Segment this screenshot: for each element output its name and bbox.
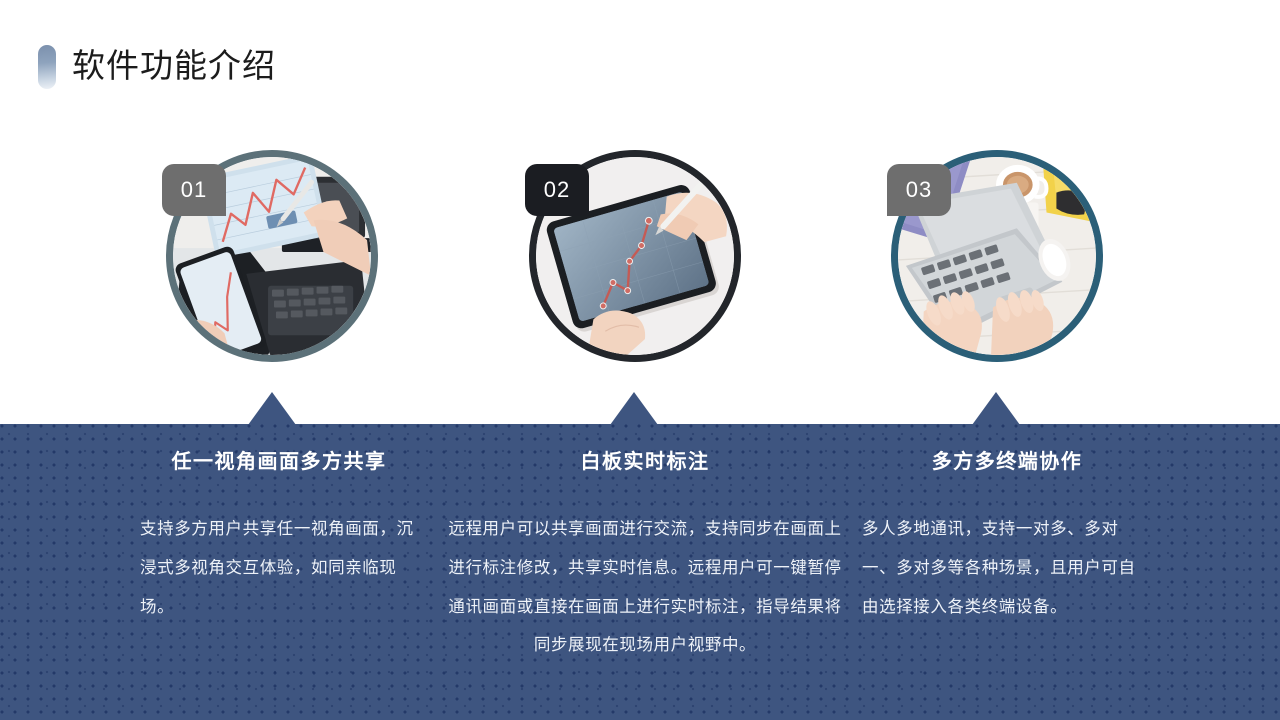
column-body-1: 支持多方用户共享任一视角画面，沉浸式多视角交互体验，如同亲临现场。	[140, 510, 418, 626]
feature-badge-3: 03	[887, 164, 951, 216]
column-heading-3: 多方多终端协作	[862, 450, 1152, 474]
description-column-2: 白板实时标注 远程用户可以共享画面进行交流，支持同步在画面上进行标注修改，共享实…	[448, 450, 842, 665]
feature-badge-2: 02	[525, 164, 589, 216]
description-columns: 任一视角画面多方共享 支持多方用户共享任一视角画面，沉浸式多视角交互体验，如同亲…	[0, 424, 1280, 720]
feature-circle-2[interactable]: 02	[529, 150, 741, 362]
pointer-triangle-2	[610, 392, 658, 425]
feature-badge-1: 01	[162, 164, 226, 216]
description-column-1: 任一视角画面多方共享 支持多方用户共享任一视角画面，沉浸式多视角交互体验，如同亲…	[140, 450, 418, 626]
column-heading-2: 白板实时标注	[448, 450, 842, 474]
feature-circles: 01	[0, 0, 1280, 420]
description-column-3: 多方多终端协作 多人多地通讯，支持一对多、多对一、多对多等各种场景，且用户可自由…	[862, 450, 1152, 626]
pointer-triangle-1	[248, 392, 296, 425]
feature-circle-3[interactable]: 03	[891, 150, 1103, 362]
column-heading-1: 任一视角画面多方共享	[140, 450, 418, 474]
column-body-2: 远程用户可以共享画面进行交流，支持同步在画面上进行标注修改，共享实时信息。远程用…	[448, 510, 842, 665]
pointer-triangle-3	[972, 392, 1020, 425]
column-body-3: 多人多地通讯，支持一对多、多对一、多对多等各种场景，且用户可自由选择接入各类终端…	[862, 510, 1152, 626]
feature-circle-1[interactable]: 01	[166, 150, 378, 362]
slide-root: 软件功能介绍	[0, 0, 1280, 720]
